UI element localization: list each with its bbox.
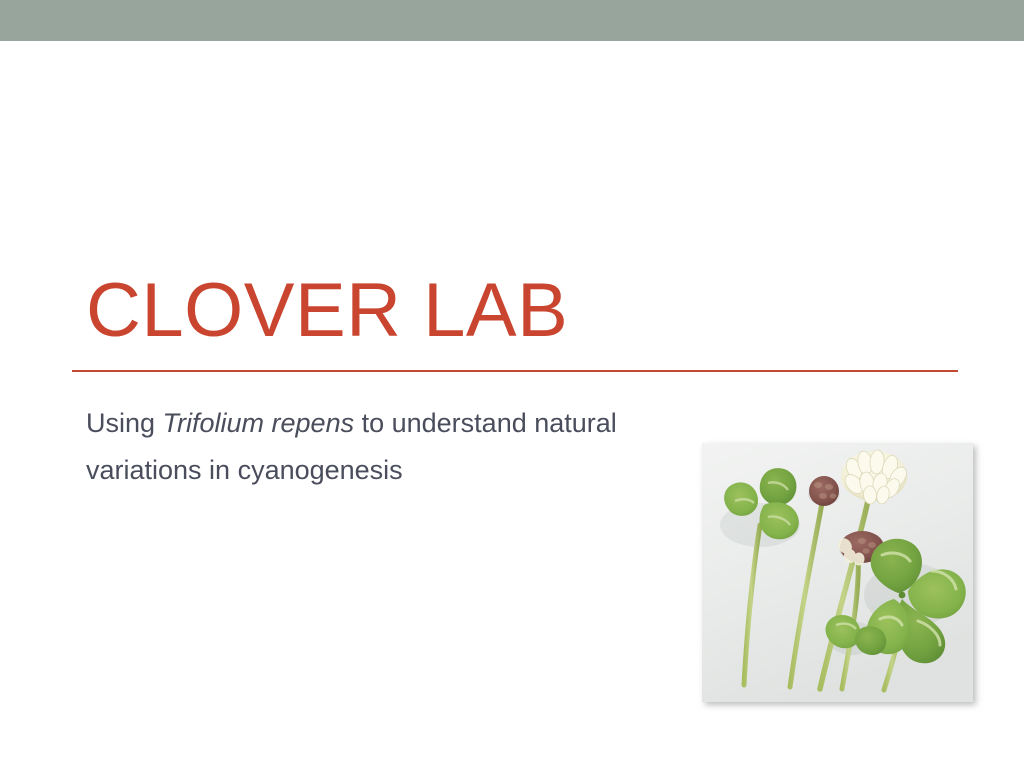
- clover-seedhead-brown-upper: [809, 476, 839, 506]
- clover-photo-artwork: [702, 443, 973, 702]
- title-block: Clover Lab: [72, 268, 958, 372]
- title-underline-rule: [72, 370, 958, 372]
- subtitle-lead-text: Using: [86, 408, 163, 438]
- clover-specimens-photo: [702, 443, 973, 702]
- subtitle-species-name: Trifolium repens: [163, 408, 355, 438]
- slide-subtitle: Using Trifolium repens to understand nat…: [86, 400, 686, 494]
- top-decorative-band: [0, 0, 1024, 41]
- slide-title: Clover Lab: [72, 268, 958, 354]
- title-slide: Clover Lab Using Trifolium repens to und…: [0, 0, 1024, 768]
